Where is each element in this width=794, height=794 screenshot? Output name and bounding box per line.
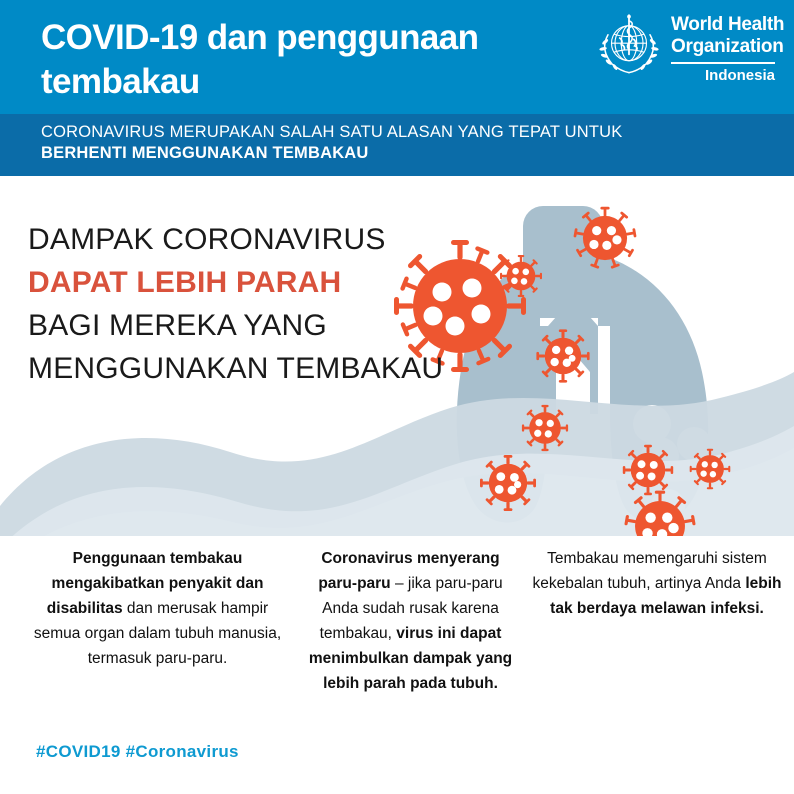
headline-line-4: MENGGUNAKAN TEMBAKAU (28, 347, 458, 390)
infographic-poster: COVID-19 dan penggunaan tembakau CORONAV… (0, 0, 794, 794)
title-line-1: COVID-19 dan penggunaan (41, 16, 581, 60)
virus-particle-small-1 (500, 255, 542, 297)
who-country-label: Indonesia (671, 67, 775, 84)
headline-line-2-accent: DAPAT LEBIH PARAH (28, 261, 458, 304)
title-line-2: tembakau (41, 60, 581, 104)
headline-line-1: DAMPAK CORONAVIRUS (28, 218, 458, 261)
who-name-line-2: Organization (671, 36, 784, 58)
who-logo: World Health Organization Indonesia (594, 11, 784, 103)
main-headline: DAMPAK CORONAVIRUS DAPAT LEBIH PARAH BAG… (28, 218, 458, 390)
virus-particle-small-4 (480, 455, 536, 511)
headline-line-3: BAGI MEREKA YANG (28, 304, 458, 347)
hashtags: #COVID19 #Coronavirus (36, 742, 239, 762)
virus-particle-small-5 (623, 445, 673, 495)
who-name-line-1: World Health (671, 14, 784, 36)
virus-particle-small-2 (536, 329, 589, 382)
column-tobacco-disease: Penggunaan tembakau mengakibatkan penyak… (30, 546, 285, 671)
subtitle-line-2: BERHENTI MENGGUNAKAN TEMBAKAU (41, 143, 741, 164)
column-immune-system: Tembakau memengaruhi sistem kekebalan tu… (532, 546, 782, 621)
who-divider (671, 62, 775, 64)
who-logo-text: World Health Organization Indonesia (671, 11, 784, 84)
poster-title: COVID-19 dan penggunaan tembakau (41, 16, 581, 104)
column-coronavirus-lungs: Coronavirus menyerang paru-paru – jika p… (303, 546, 518, 696)
fact-columns: Penggunaan tembakau mengakibatkan penyak… (0, 546, 794, 696)
poster-subtitle: CORONAVIRUS MERUPAKAN SALAH SATU ALASAN … (41, 122, 741, 164)
virus-particle-small-3 (522, 405, 568, 451)
virus-particle-small-6 (690, 449, 731, 490)
subtitle-line-1: CORONAVIRUS MERUPAKAN SALAH SATU ALASAN … (41, 122, 741, 143)
who-emblem-icon (594, 11, 664, 81)
